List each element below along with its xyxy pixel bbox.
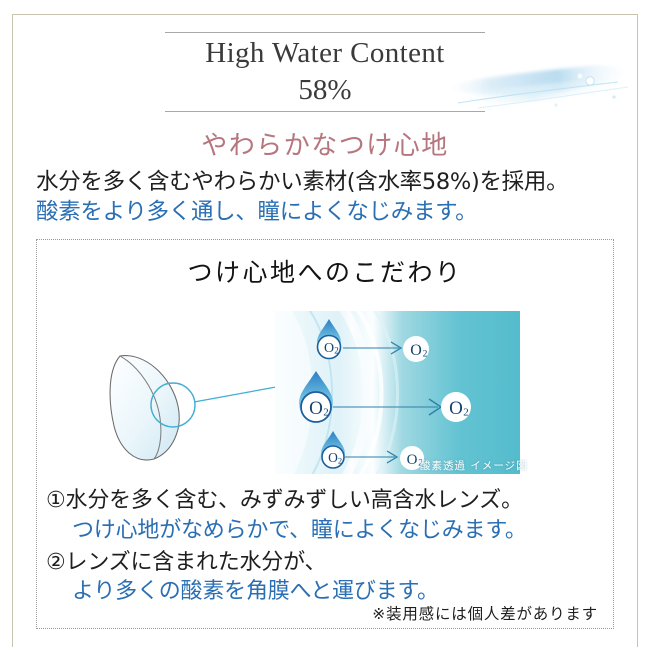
svg-text:O: O: [328, 450, 338, 465]
svg-text:O: O: [309, 398, 323, 419]
item-2-line-1: ②レンズに含まれた水分が、: [46, 549, 616, 578]
oxygen-permeability-diagram: O 2 O 2 O 2 O 2 O 2 O 2: [275, 311, 520, 474]
section-heading: つけ心地へのこだわり: [181, 253, 468, 292]
water-content-percent: 58%: [165, 75, 485, 110]
item-1-number: ①: [46, 488, 66, 513]
feature-list: ①水分を多く含む、みずみずしい高含水レンズ。 つけ心地がなめらかで、瞳によくなじ…: [46, 487, 616, 610]
section-heading-wrap: つけ心地へのこだわり: [0, 253, 650, 292]
svg-text:O: O: [324, 341, 334, 356]
page-title: High Water Content: [165, 33, 485, 75]
list-item: ①水分を多く含む、みずみずしい高含水レンズ。 つけ心地がなめらかで、瞳によくなじ…: [46, 487, 616, 545]
item-1-line-2: つけ心地がなめらかで、瞳によくなじみます。: [46, 516, 616, 545]
item-2-number: ②: [46, 550, 66, 575]
svg-text:2: 2: [334, 346, 339, 356]
title-block: High Water Content 58%: [165, 32, 485, 112]
list-item: ②レンズに含まれた水分が、 より多くの酸素を角膜へと運びます。: [46, 549, 616, 607]
intro-line-2: 酸素をより多く通し、瞳によくなじみます。: [36, 198, 626, 228]
svg-text:2: 2: [423, 350, 428, 360]
svg-text:O: O: [410, 342, 422, 359]
item-1-text: 水分を多く含む、みずみずしい高含水レンズ。: [66, 488, 523, 513]
contact-lens-illustration: [100, 340, 295, 465]
subheadline: やわらかなつけ心地: [0, 125, 650, 162]
svg-text:O: O: [407, 452, 418, 468]
item-1-line-1: ①水分を多く含む、みずみずしい高含水レンズ。: [46, 487, 616, 516]
intro-text-block: 水分を多く含むやわらかい素材(含水率58%)を採用。 酸素をより多く通し、瞳によ…: [36, 168, 626, 227]
svg-text:2: 2: [323, 407, 329, 419]
svg-text:O: O: [449, 398, 463, 419]
disclaimer-text: ※装用感には個人差があります: [372, 602, 598, 624]
intro-line-1: 水分を多く含むやわらかい素材(含水率58%)を採用。: [36, 168, 626, 198]
svg-text:2: 2: [463, 407, 469, 419]
title-rule-bottom: [165, 111, 485, 112]
item-2-text: レンズに含まれた水分が、: [66, 550, 327, 575]
svg-text:2: 2: [338, 456, 342, 466]
